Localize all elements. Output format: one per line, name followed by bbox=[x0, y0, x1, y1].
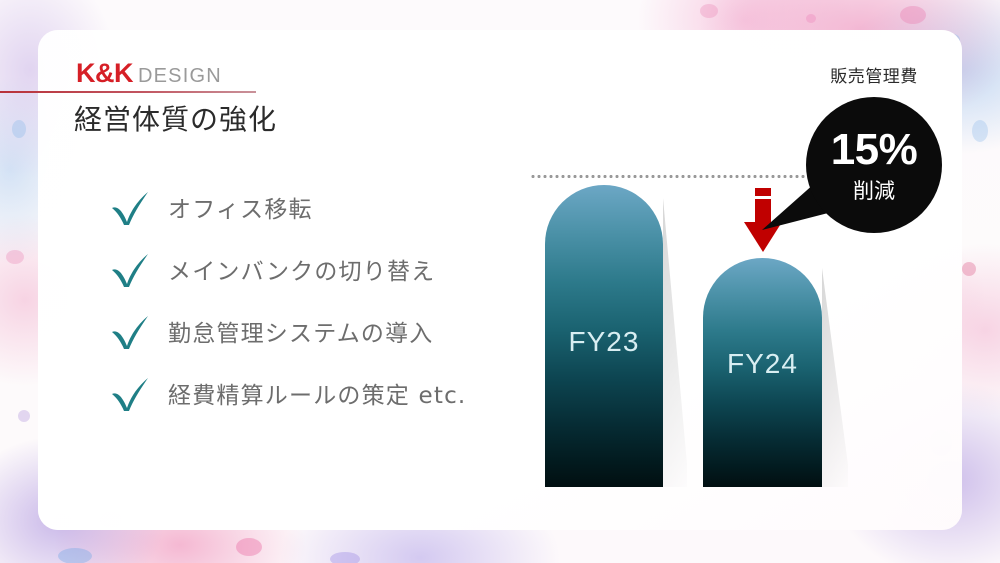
callout-subtext: 削減 bbox=[853, 181, 895, 202]
logo-secondary-text: DESIGN bbox=[138, 66, 222, 86]
brand-logo: K&K DESIGN bbox=[76, 60, 222, 87]
list-item-label: 経費精算ルールの策定 etc. bbox=[168, 376, 466, 410]
list-item-label: 勤怠管理システムの導入 bbox=[168, 314, 434, 348]
list-item-label: メインバンクの切り替え bbox=[168, 252, 435, 286]
list-item: オフィス移転 bbox=[108, 176, 466, 238]
callout-value: 15% bbox=[831, 128, 918, 172]
slide-canvas: K&K DESIGN 経営体質の強化 オフィス移転 メインバンクの切り替え bbox=[0, 0, 1000, 563]
check-icon bbox=[108, 187, 152, 227]
callout-label: 販売管理費 bbox=[806, 62, 942, 87]
callout-bubble: 15% 削減 bbox=[806, 97, 942, 233]
list-item-label: オフィス移転 bbox=[168, 190, 313, 224]
bar-label-fy24: FY24 bbox=[703, 348, 822, 380]
bar-fy23: FY23 bbox=[545, 185, 663, 487]
check-icon bbox=[108, 249, 152, 289]
bullet-list: オフィス移転 メインバンクの切り替え 勤怠管理システムの導入 bbox=[108, 176, 466, 424]
check-icon bbox=[108, 311, 152, 351]
page-title: 経営体質の強化 bbox=[74, 98, 277, 138]
logo-primary-text: K&K bbox=[76, 60, 133, 87]
list-item: 勤怠管理システムの導入 bbox=[108, 300, 466, 362]
list-item: 経費精算ルールの策定 etc. bbox=[108, 362, 466, 424]
list-item: メインバンクの切り替え bbox=[108, 238, 466, 300]
bar-label-fy23: FY23 bbox=[545, 326, 663, 358]
check-icon bbox=[108, 373, 152, 413]
bar-fy24: FY24 bbox=[703, 258, 822, 487]
logo-underline-rule bbox=[0, 91, 256, 93]
